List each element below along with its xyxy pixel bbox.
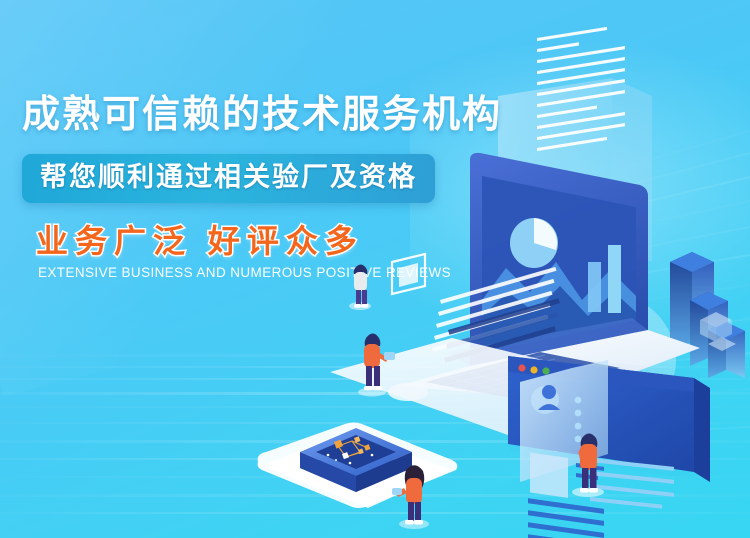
text-block: 成熟可信赖的技术服务机构 帮您顺利通过相关验厂及资格 业务广泛 好评众多 EXT… bbox=[22, 96, 502, 280]
person-right bbox=[572, 434, 604, 498]
dashboard-bar-chart bbox=[588, 245, 621, 313]
headline: 成熟可信赖的技术服务机构 bbox=[22, 96, 502, 134]
laptop-base bbox=[398, 330, 700, 400]
promo-banner: 成熟可信赖的技术服务机构 帮您顺利通过相关验厂及资格 业务广泛 好评众多 EXT… bbox=[0, 0, 750, 538]
bottom-light-streaks bbox=[0, 348, 750, 538]
browser-window bbox=[508, 352, 710, 509]
browser-list bbox=[575, 397, 674, 509]
subhead-box: 帮您顺利通过相关验厂及资格 bbox=[22, 154, 435, 203]
laptop-screen bbox=[482, 176, 636, 352]
bottom-white-slab bbox=[262, 432, 452, 508]
laptop-trackpad bbox=[388, 383, 428, 401]
striped-panel-dark bbox=[444, 298, 560, 363]
profile-card bbox=[520, 360, 608, 538]
profile-avatar bbox=[530, 385, 568, 498]
tagline-cn: 业务广泛 好评众多 bbox=[36, 225, 502, 257]
dashboard-pie-chart bbox=[510, 218, 558, 268]
browser-dot-green bbox=[542, 367, 549, 374]
dashboard-area-chart bbox=[482, 262, 636, 352]
platform-screen bbox=[316, 435, 396, 469]
network-platform bbox=[300, 428, 412, 492]
tagline-en: EXTENSIVE BUSINESS AND NUMEROUS POSITIVE… bbox=[38, 265, 502, 280]
profile-text-lines bbox=[528, 463, 604, 538]
laptop-keyboard bbox=[425, 352, 620, 398]
floating-cubes bbox=[700, 312, 736, 351]
bar-chart-3d bbox=[670, 252, 745, 378]
subhead-text: 帮您顺利通过相关验厂及资格 bbox=[40, 162, 417, 192]
person-center bbox=[358, 334, 395, 397]
halo-circle bbox=[532, 292, 676, 428]
browser-dot-red bbox=[518, 364, 525, 371]
browser-titlebar bbox=[508, 356, 694, 392]
white-floor-slab bbox=[330, 338, 700, 452]
browser-dot-yellow bbox=[530, 366, 537, 373]
document-panel bbox=[498, 27, 652, 272]
network-nodes bbox=[327, 436, 374, 464]
person-bottom bbox=[392, 465, 429, 529]
